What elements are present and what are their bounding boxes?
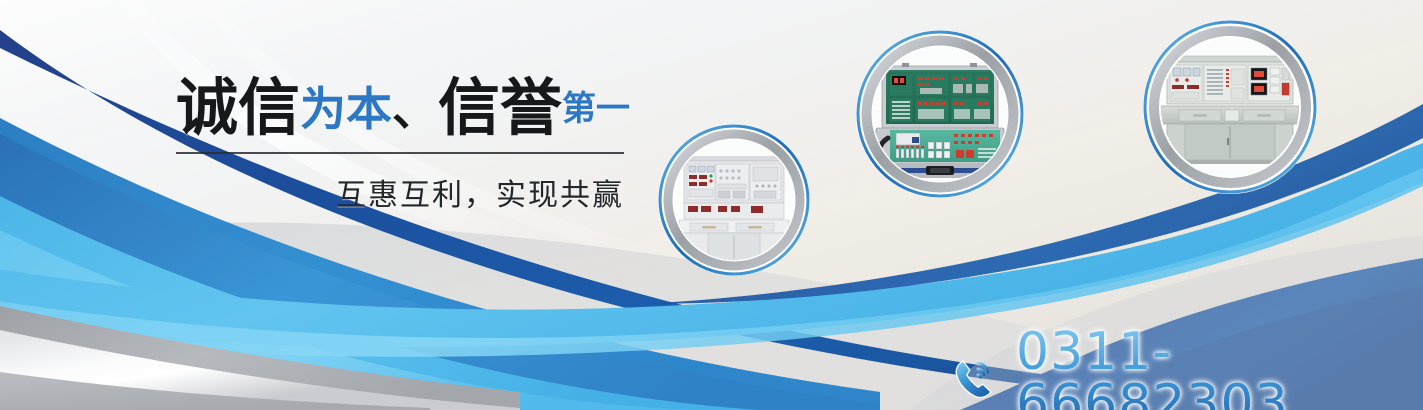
headline-part-4: 信誉: [438, 74, 562, 143]
phone-number[interactable]: 0311-66682303: [1016, 326, 1423, 410]
headline-part-5: 第一: [562, 90, 630, 128]
slogan-block: 诚信为本、信誉第一 互惠互利，实现共赢: [176, 78, 626, 214]
product-photo-2[interactable]: [856, 30, 1024, 198]
subline: 互惠互利，实现共赢: [176, 170, 624, 214]
headline: 诚信为本、信誉第一: [176, 78, 626, 140]
headline-part-1: 诚信: [176, 74, 300, 143]
product-photo-3[interactable]: [1143, 20, 1317, 194]
headline-part-3: 、: [392, 83, 438, 135]
headline-divider: [176, 152, 624, 154]
product-photo-2-graphic: [856, 30, 1024, 198]
product-photo-1[interactable]: [658, 124, 810, 276]
promotional-banner: 诚信为本、信誉第一 互惠互利，实现共赢: [0, 0, 1423, 410]
contact-block[interactable]: 0311-66682303: [950, 326, 1423, 410]
product-photo-3-graphic: [1143, 20, 1317, 194]
phone-call-icon: [950, 352, 1002, 404]
product-photo-1-graphic: [658, 124, 810, 276]
headline-part-2: 为本: [300, 83, 392, 135]
